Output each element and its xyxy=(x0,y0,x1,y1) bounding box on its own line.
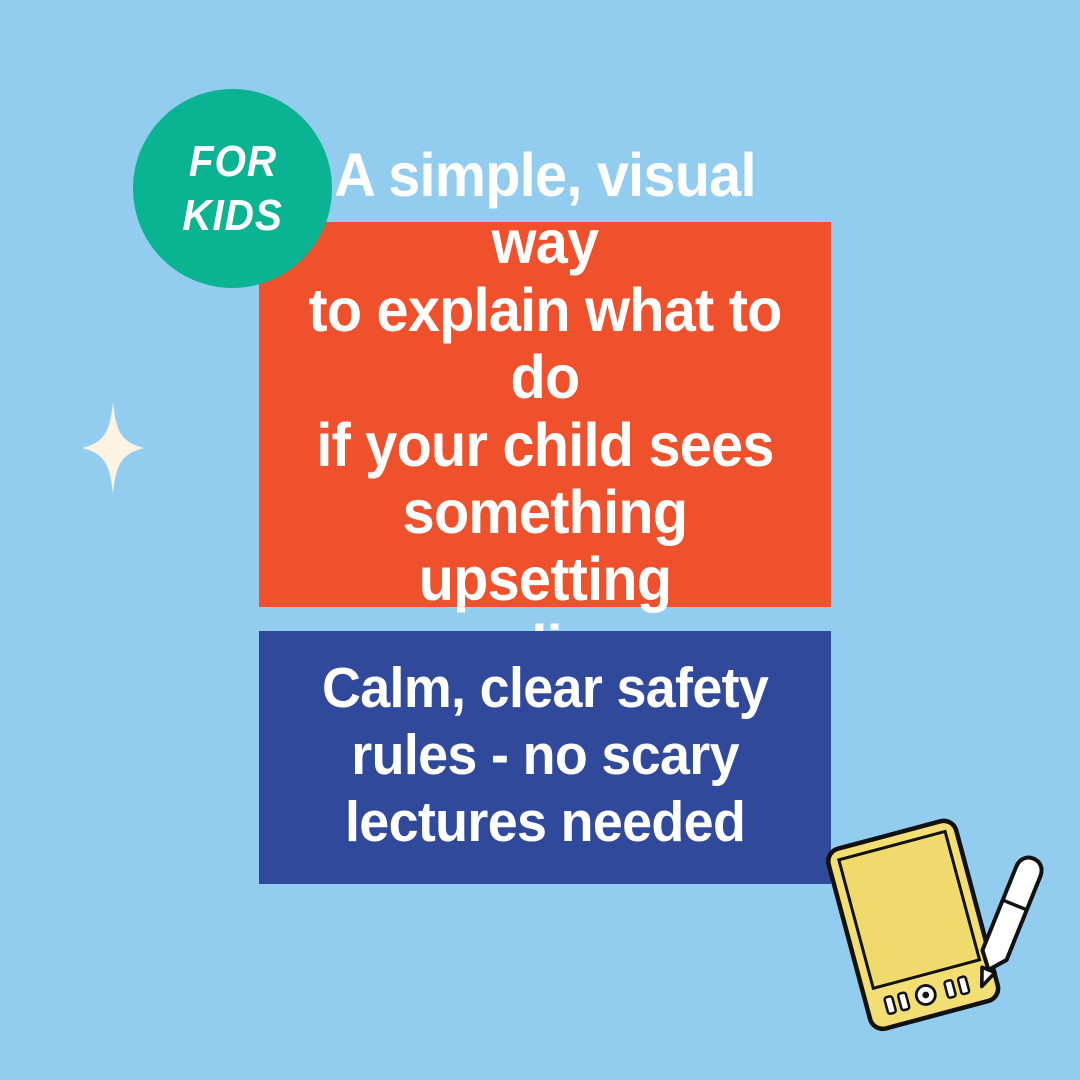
headline-text: A simple, visual way to explain what to … xyxy=(288,142,802,681)
sparkle-icon xyxy=(80,400,146,496)
subhead-text: Calm, clear safety rules - no scary lect… xyxy=(322,655,768,855)
stylus-body xyxy=(976,854,1045,975)
for-kids-badge: FOR KIDS xyxy=(133,89,332,288)
subhead-panel: Calm, clear safety rules - no scary lect… xyxy=(259,631,831,884)
badge-label-line2: KIDS xyxy=(182,189,282,243)
headline-panel: A simple, visual way to explain what to … xyxy=(259,222,831,607)
tablet-illustration xyxy=(818,798,1068,1038)
tablet-device xyxy=(825,818,1001,1032)
badge-label-line1: FOR xyxy=(188,135,276,189)
poster-canvas: A simple, visual way to explain what to … xyxy=(0,0,1080,1080)
